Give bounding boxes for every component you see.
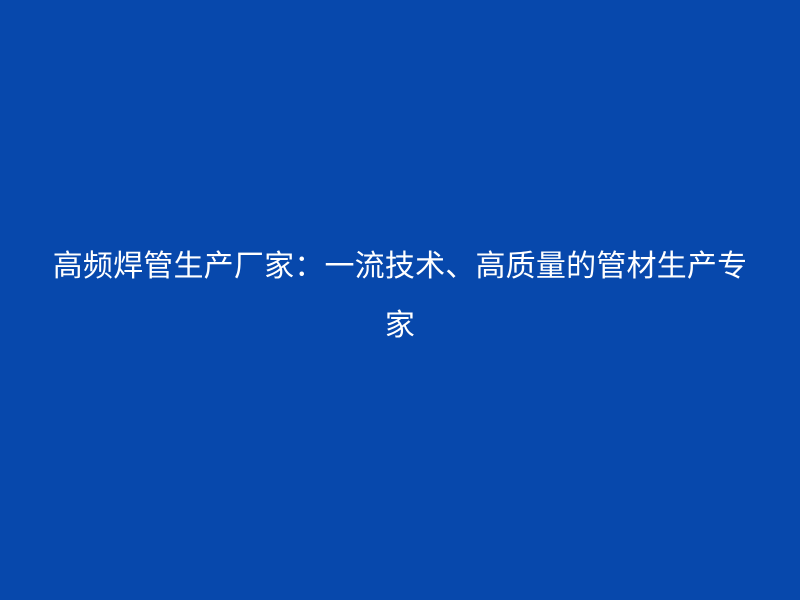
headline-block: 高频焊管生产厂家：一流技术、高质量的管材生产专家 (0, 237, 800, 355)
banner-canvas: 高频焊管生产厂家：一流技术、高质量的管材生产专家 (0, 0, 800, 600)
page-title: 高频焊管生产厂家：一流技术、高质量的管材生产专家 (52, 237, 748, 355)
